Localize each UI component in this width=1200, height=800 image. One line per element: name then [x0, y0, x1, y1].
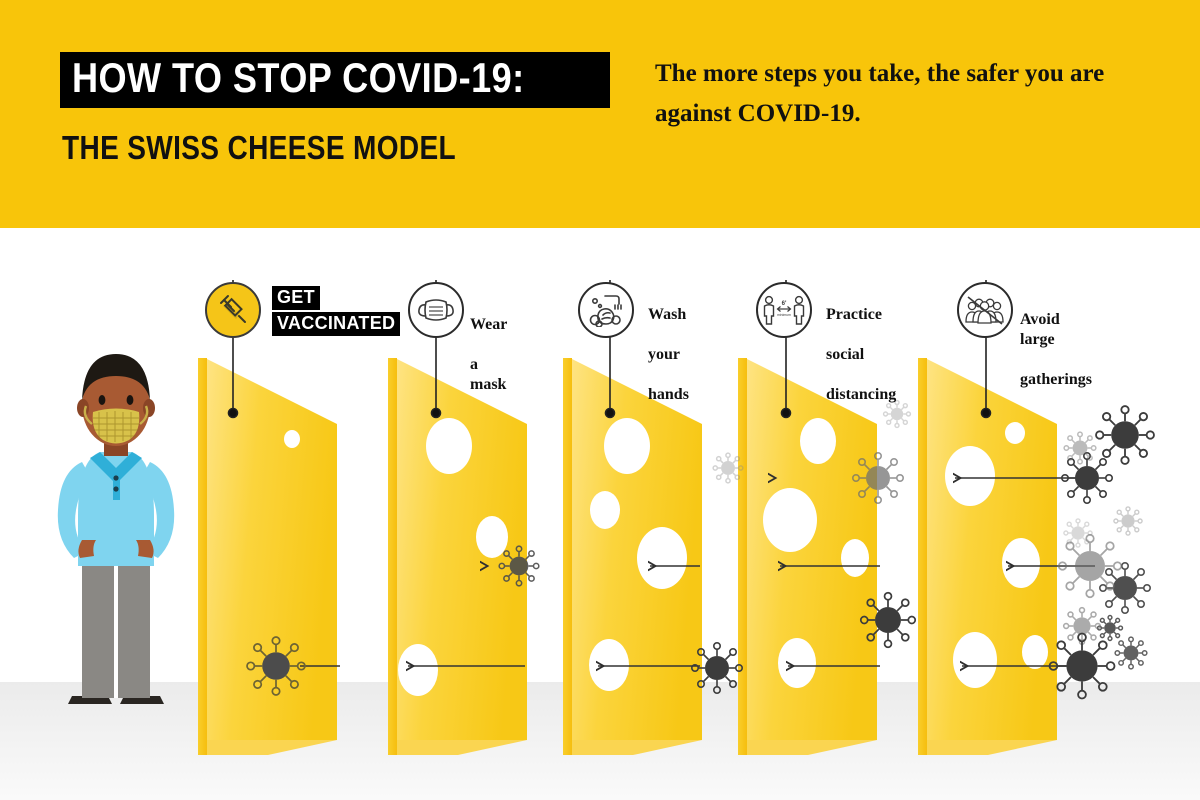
step-label-line-2: social: [826, 345, 896, 365]
step-label-line-2: your: [648, 345, 689, 365]
step-label-wash-your-hands: Wash your hands: [648, 285, 689, 425]
handwash-icon[interactable]: [578, 282, 634, 338]
step-label-line-1: Avoid large: [1020, 310, 1092, 350]
page-title-box: HOW TO STOP COVID-19:: [60, 52, 610, 108]
step-label-line-1: Wash: [648, 305, 689, 325]
distance-qualifier: minimum: [777, 313, 791, 317]
cheese-slice-1: [198, 358, 337, 755]
page-title: HOW TO STOP COVID-19:: [72, 56, 525, 100]
masked-person: [58, 354, 174, 704]
step-label-line-1: GET: [272, 286, 320, 310]
no-gathering-icon[interactable]: [957, 282, 1013, 338]
step-label-line-3: distancing: [826, 385, 896, 405]
social-distancing-icon[interactable]: 6' minimum: [756, 282, 812, 338]
step-label-line-2: VACCINATED: [272, 312, 400, 336]
infographic-canvas: HOW TO STOP COVID-19: THE SWISS CHEESE M…: [0, 0, 1200, 800]
header-band: HOW TO STOP COVID-19: THE SWISS CHEESE M…: [0, 0, 1200, 228]
distance-value: 6': [782, 301, 787, 307]
page-subtitle: THE SWISS CHEESE MODEL: [62, 130, 456, 166]
face-mask-icon[interactable]: [408, 282, 464, 338]
step-label-practice-social-distancing: Practice social distancing: [826, 285, 896, 425]
step-label-line-2: gatherings: [1020, 370, 1092, 390]
syringe-icon[interactable]: [205, 282, 261, 338]
step-label-line-3: hands: [648, 385, 689, 405]
step-label-get-vaccinated: GET VACCINATED: [272, 286, 402, 338]
step-label-wear-a-mask: Wear a mask: [470, 295, 507, 415]
step-label-line-1: Practice: [826, 305, 896, 325]
header-tagline: The more steps you take, the safer you a…: [655, 54, 1165, 134]
step-label-line-1: Wear: [470, 315, 507, 335]
step-label-avoid-large-gatherings: Avoid large gatherings: [1020, 290, 1092, 410]
step-label-line-2: a mask: [470, 355, 507, 395]
